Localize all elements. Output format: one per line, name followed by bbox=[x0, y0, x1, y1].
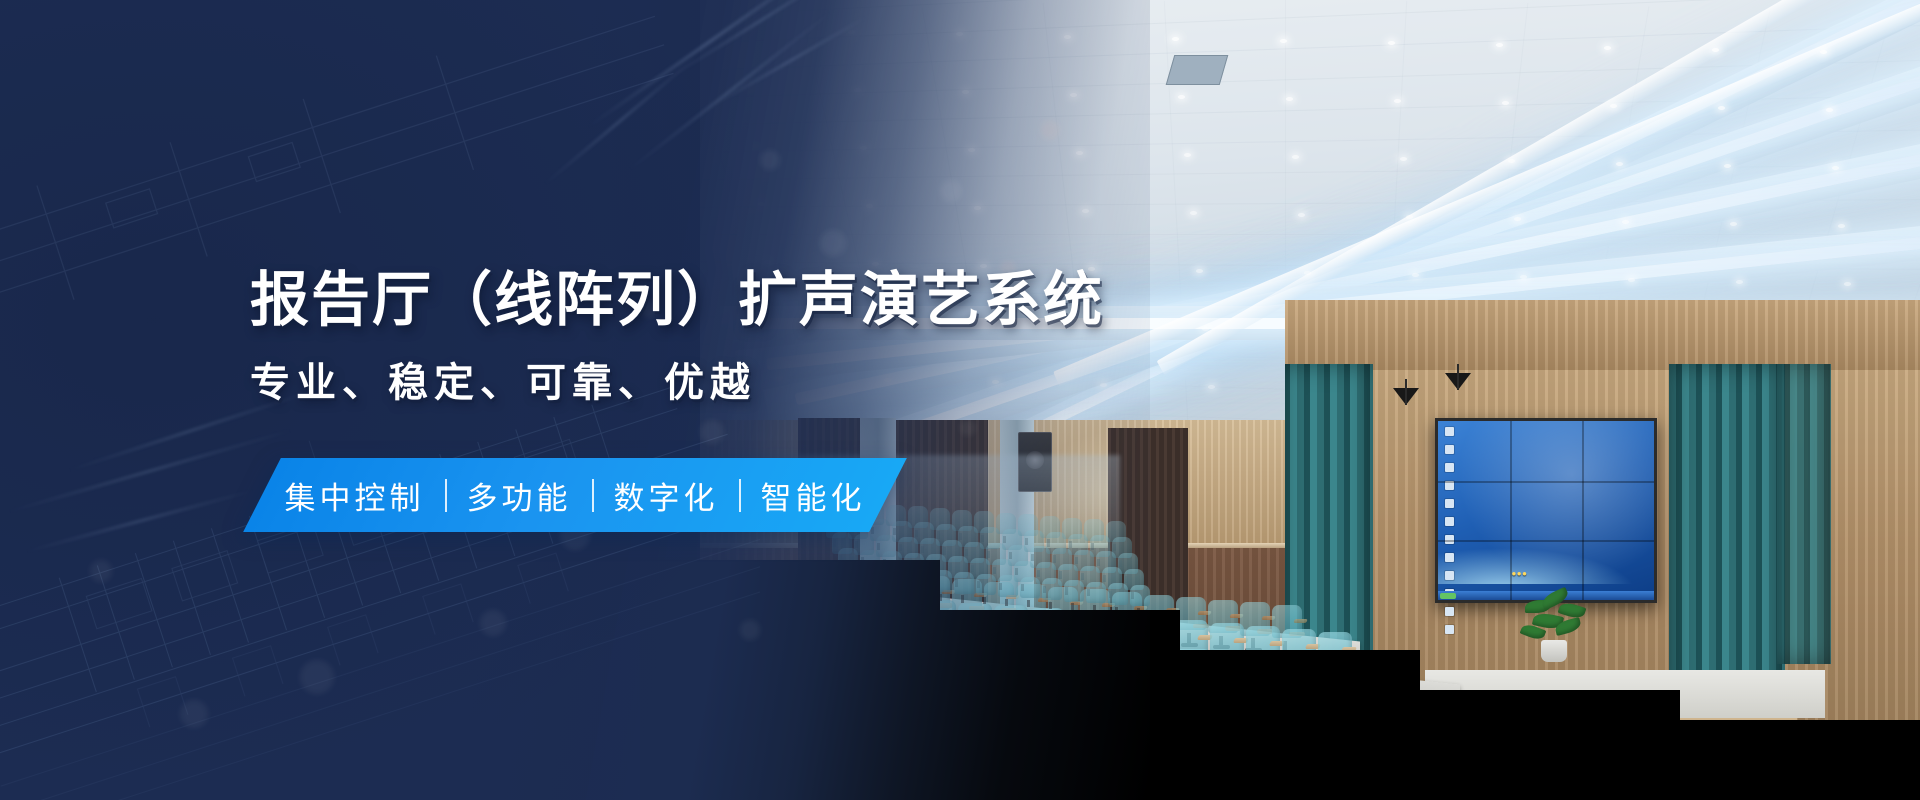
banner-copy: 报告厅（线阵列）扩声演艺系统 专业、稳定、可靠、优越 bbox=[250, 270, 1200, 408]
banner-root: ●●● bbox=[0, 0, 1920, 800]
feature-tag-list: 集中控制多功能数字化智能化 bbox=[265, 473, 886, 518]
feature-tag[interactable]: 多功能 bbox=[447, 473, 592, 518]
feature-tag[interactable]: 集中控制 bbox=[265, 473, 445, 518]
banner-subheadline: 专业、稳定、可靠、优越 bbox=[250, 350, 1200, 408]
feature-tag[interactable]: 智能化 bbox=[741, 473, 886, 518]
feature-ribbon: 集中控制多功能数字化智能化 bbox=[262, 458, 888, 532]
banner-headline: 报告厅（线阵列）扩声演艺系统 bbox=[250, 270, 1200, 332]
feature-tag[interactable]: 数字化 bbox=[594, 473, 739, 518]
